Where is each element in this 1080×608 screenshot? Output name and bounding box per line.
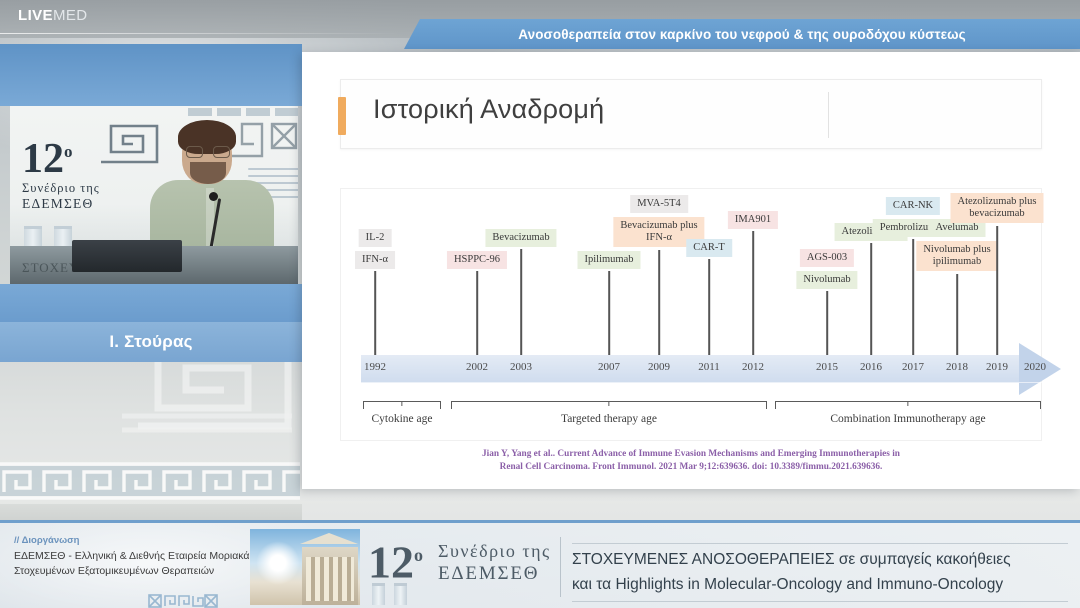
greek-meander-band-icon — [0, 462, 300, 504]
era-bracket-tick — [907, 401, 908, 406]
timeline-stem — [870, 243, 872, 355]
session-title-ribbon: Ανοσοθεραπεία στον καρκίνο του νεφρού & … — [404, 19, 1080, 49]
timeline-stem — [476, 271, 478, 355]
timeline-label: IFN-α — [355, 251, 395, 269]
timeline-stem — [996, 226, 998, 355]
timeline-stem — [956, 274, 958, 355]
timeline-year-2018: 2018 — [946, 361, 968, 373]
footer-main-title: ΣΤΟΧΕΥΜΕΝΕΣ ΑΝΟΣΟΘΕΡΑΠΕΙΕΣ σε συμπαγείς … — [572, 547, 1072, 597]
video-feed[interactable]: 12ο Συνέδριο της ΕΔΕΜΣΕΘ ΣΤΟΧΕΥΜ — [10, 106, 298, 284]
footer-congress-line1: Συνέδριο της — [438, 541, 551, 562]
timeline-year-2009: 2009 — [648, 361, 670, 373]
footer-columns-icon — [370, 579, 430, 605]
microphone-head-icon — [209, 192, 218, 201]
era-label: Combination Immunotherapy age — [830, 413, 985, 425]
timeline-axis-line — [361, 382, 1061, 383]
timeline-stem — [520, 249, 522, 355]
timeline-year-2007: 2007 — [598, 361, 620, 373]
timeline-label: Bevacizumab — [485, 229, 556, 247]
timeline-label: Atezolizumab plusbevacizumab — [950, 193, 1043, 223]
timeline-label: CAR-NK — [886, 197, 940, 215]
timeline-stem — [708, 259, 710, 355]
logo-bold-part: LIVE — [18, 7, 53, 24]
footer-banner: // Διοργάνωση ΕΔΕΜΣΕΘ - Ελληνική & Διεθν… — [0, 520, 1080, 608]
footer-congress-number-block: 12ο — [368, 533, 423, 584]
timeline-label: Nivolumab — [796, 271, 857, 289]
timeline-stem — [826, 291, 828, 355]
timeline-label: Ipilimumab — [578, 251, 641, 269]
video-frame-bottom — [0, 284, 302, 322]
speaker-video-tile[interactable]: 12ο Συνέδριο της ΕΔΕΜΣΕΘ ΣΤΟΧΕΥΜ Ι. Στού… — [0, 44, 302, 322]
footer-congress-line2: ΕΔΕΜΣΕΘ — [438, 563, 551, 585]
footer-rule-top — [572, 543, 1068, 544]
timeline-year-2019: 2019 — [986, 361, 1008, 373]
footer-org-tag: // Διοργάνωση — [14, 535, 79, 546]
citation-line-2: Renal Cell Carcinoma. Front Immunol. 202… — [340, 461, 1042, 474]
footer-org-name: ΕΔΕΜΣΕΘ - Ελληνική & Διεθνής Εταιρεία Μο… — [14, 549, 254, 579]
timeline-label: Nivolumab plusipilimumab — [916, 241, 997, 271]
title-divider — [828, 92, 829, 138]
timeline-stem — [608, 271, 610, 355]
timeline-label: IMA901 — [728, 211, 778, 229]
speaker-name: Ι. Στούρας — [109, 332, 192, 352]
photo-sun-glow — [256, 541, 300, 585]
speaker-beard — [190, 162, 226, 184]
backdrop-congress-line1: Συνέδριο της — [22, 181, 132, 196]
timeline-year-2012: 2012 — [742, 361, 764, 373]
timeline-label: MVA-5T4 — [630, 195, 688, 213]
era-bracket-tick — [401, 401, 402, 406]
citation-line-1: Jian Y, Yang et al.. Current Advance of … — [340, 448, 1042, 461]
footer-congress-name: Συνέδριο της ΕΔΕΜΣΕΘ — [438, 541, 551, 585]
timeline-stem — [374, 271, 376, 355]
speaker-name-bar: Ι. Στούρας — [0, 322, 302, 362]
laptop — [72, 240, 182, 272]
timeline-label: AGS-003 — [800, 249, 854, 267]
timeline-stem — [658, 250, 660, 355]
slide-panel: Ιστορική Αναδρομή 1992200220032007200920… — [302, 52, 1080, 489]
era-bracket-tick — [608, 401, 609, 406]
footer-congress-number: 12ο — [368, 533, 423, 584]
footer-main-line-1: ΣΤΟΧΕΥΜΕΝΕΣ ΑΝΟΣΟΘΕΡΑΠΕΙΕΣ σε συμπαγείς … — [572, 547, 1072, 572]
footer-main-line-2: και τα Highlights in Molecular-Oncology … — [572, 572, 1072, 597]
photo-temple-columns — [306, 557, 354, 601]
backdrop-congress-number: 12ο — [22, 132, 132, 179]
slide-title: Ιστορική Αναδρομή — [373, 94, 604, 125]
speaker-glasses-icon — [186, 146, 230, 158]
timeline-year-2011: 2011 — [698, 361, 720, 373]
session-title: Ανοσοθεραπεία στον καρκίνο του νεφρού & … — [518, 27, 965, 42]
citation: Jian Y, Yang et al.. Current Advance of … — [340, 448, 1042, 473]
top-bar-rule — [0, 33, 400, 34]
backdrop-congress-line2: ΕΔΕΜΣΕΘ — [22, 196, 132, 212]
timeline-year-2016: 2016 — [860, 361, 882, 373]
timeline-label: IL-2 — [359, 229, 392, 247]
livemed-logo[interactable]: LIVEMED — [18, 7, 88, 24]
timeline-label: HSPPC-96 — [447, 251, 507, 269]
timeline-year-2003: 2003 — [510, 361, 532, 373]
footer-meander-icon — [148, 593, 218, 608]
backdrop-meander-right-icon — [228, 118, 298, 162]
timeline-year-2020: 2020 — [1024, 361, 1046, 373]
footer-rule-bottom — [572, 601, 1068, 602]
timeline-stem — [752, 231, 754, 355]
backdrop-congress-logo: 12ο Συνέδριο της ΕΔΕΜΣΕΘ — [22, 132, 132, 218]
timeline-year-1992: 1992 — [364, 361, 386, 373]
slide-title-box: Ιστορική Αναδρομή — [340, 79, 1042, 149]
timeline-figure: 1992200220032007200920112012201520162017… — [340, 188, 1042, 441]
footer-acropolis-photo — [250, 529, 360, 605]
timeline-year-2017: 2017 — [902, 361, 924, 373]
era-label: Cytokine age — [372, 413, 433, 425]
timeline-stem — [912, 239, 914, 355]
timeline-year-2002: 2002 — [466, 361, 488, 373]
logo-light-part: MED — [53, 7, 88, 24]
video-frame-top — [0, 44, 302, 106]
era-label: Targeted therapy age — [561, 413, 657, 425]
footer-divider — [560, 537, 561, 597]
photo-temple-roof — [296, 533, 360, 544]
backdrop-top-text — [188, 108, 298, 116]
title-accent-bar — [338, 97, 346, 135]
timeline-year-2015: 2015 — [816, 361, 838, 373]
timeline-label: CAR-T — [686, 239, 732, 257]
